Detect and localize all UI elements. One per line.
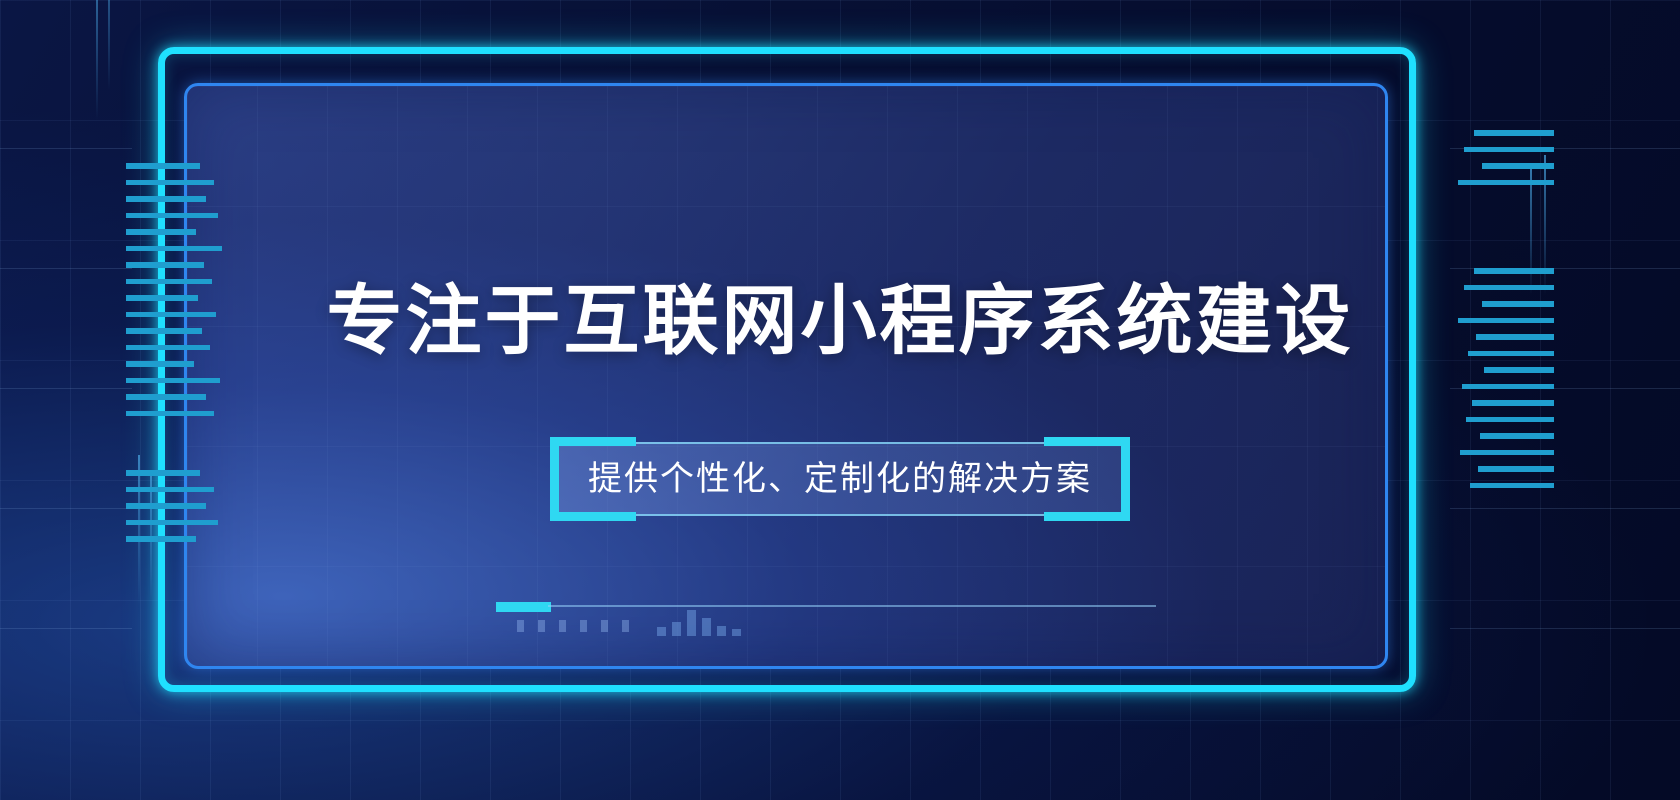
corner-bracket-top-right-icon bbox=[1044, 437, 1130, 446]
subtitle-plate: 提供个性化、定制化的解决方案 bbox=[554, 442, 1126, 517]
plate-edge-top bbox=[554, 442, 1126, 444]
banner-stage: 专注于互联网小程序系统建设 提供个性化、定制化的解决方案 bbox=[0, 0, 1680, 800]
page-subtitle: 提供个性化、定制化的解决方案 bbox=[588, 458, 1092, 501]
corner-bracket-bottom-right-icon bbox=[1044, 512, 1130, 521]
page-title: 专注于互联网小程序系统建设 bbox=[327, 284, 1354, 360]
corner-bracket-top-left-icon bbox=[550, 437, 636, 446]
banner-content: 专注于互联网小程序系统建设 提供个性化、定制化的解决方案 bbox=[0, 0, 1680, 800]
plate-edge-bottom bbox=[554, 514, 1126, 516]
corner-bracket-bottom-left-icon bbox=[550, 512, 636, 521]
